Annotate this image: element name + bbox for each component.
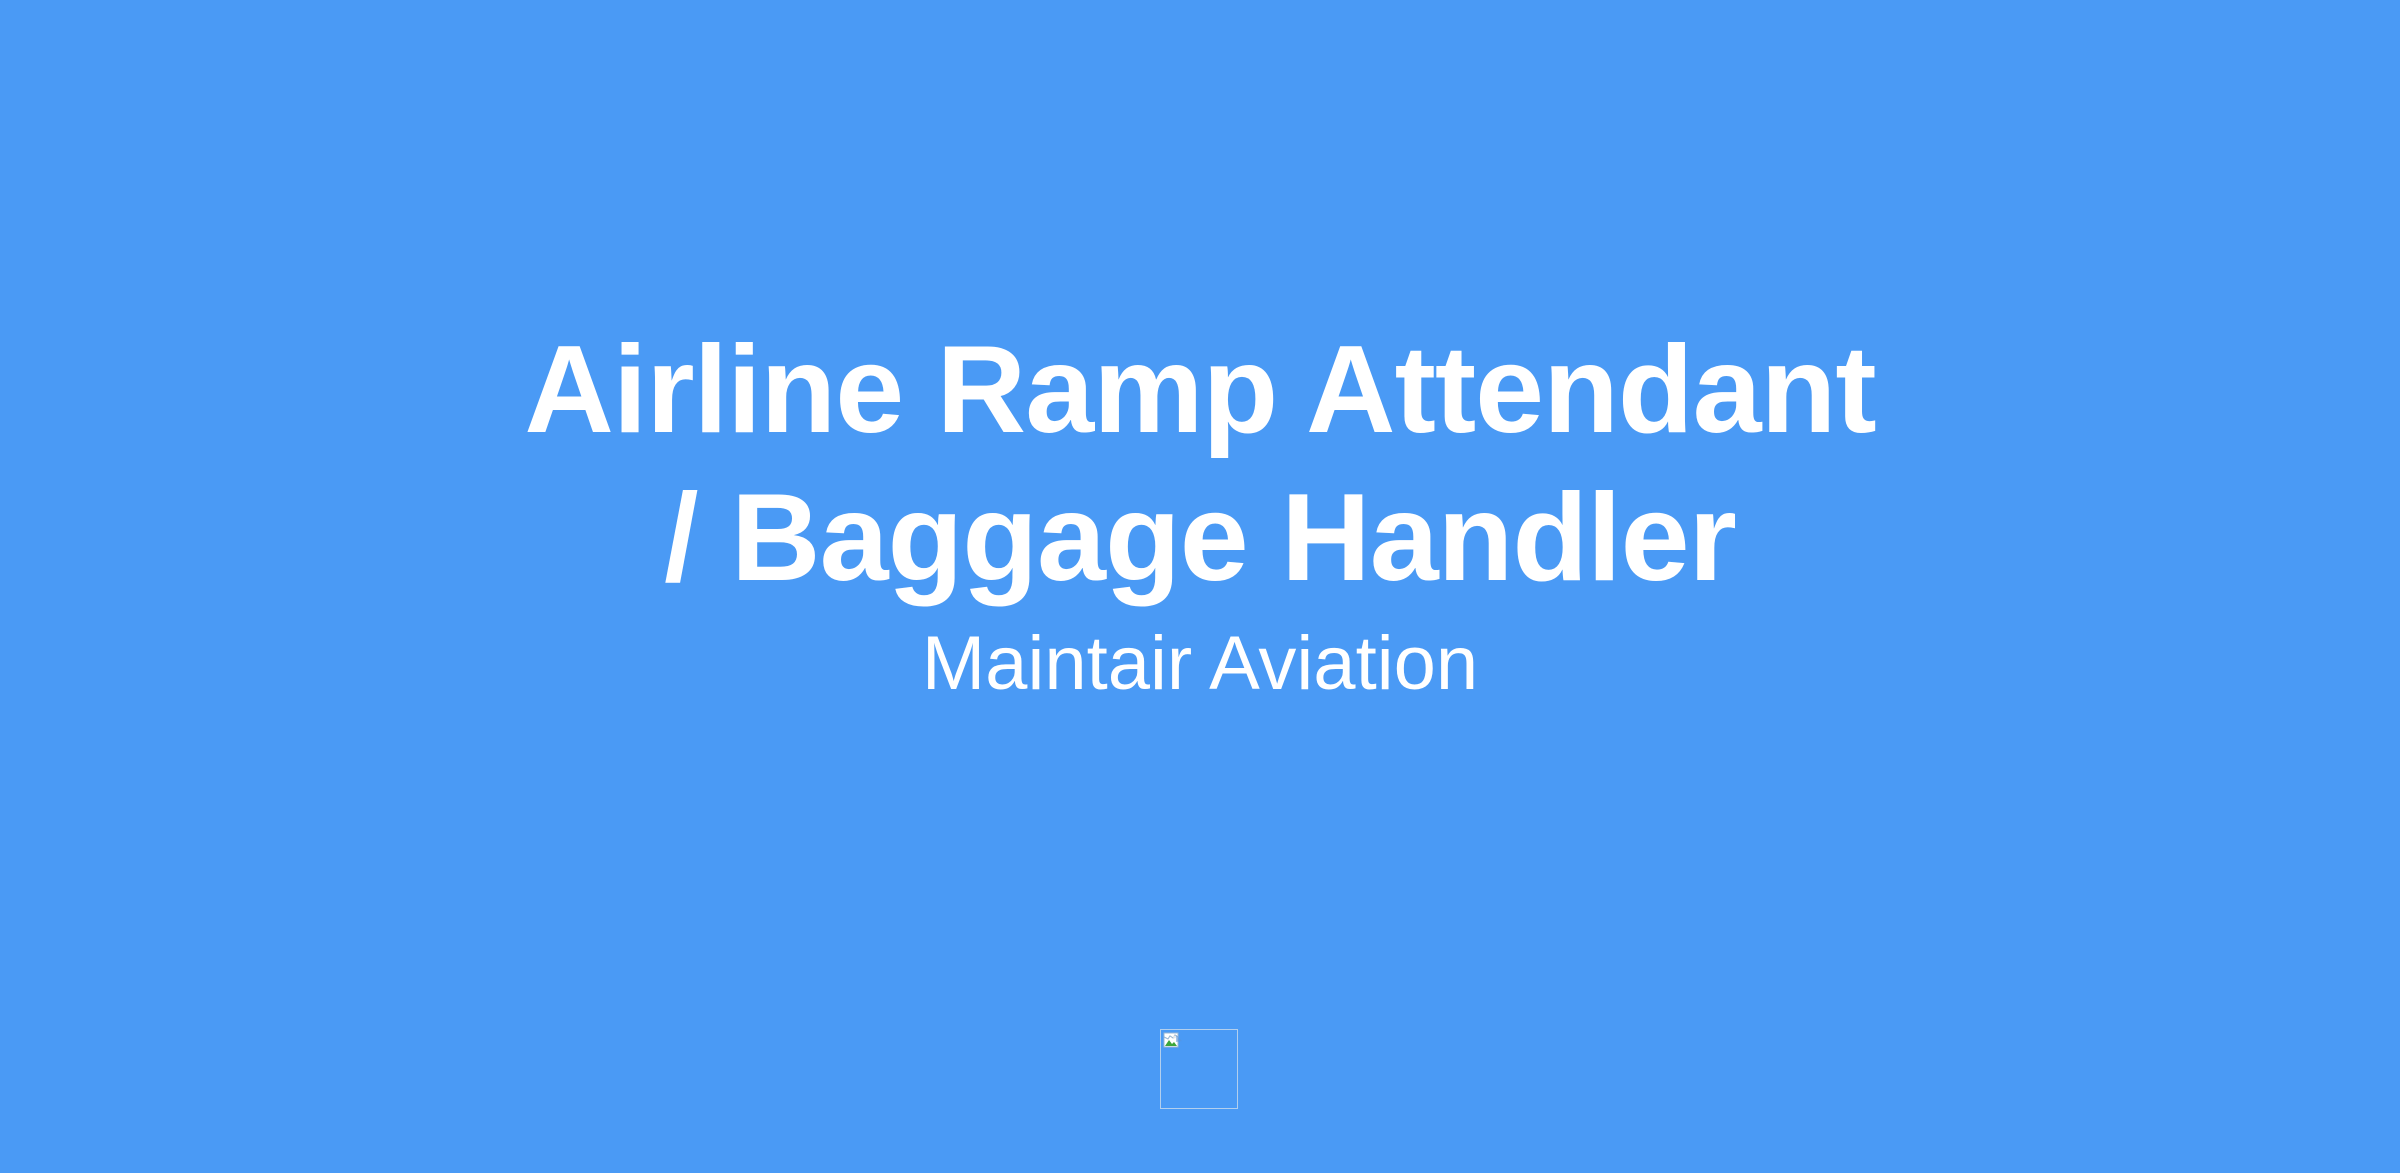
broken-image-icon — [1163, 1032, 1183, 1051]
hero-banner: Airline Ramp Attendant / Baggage Handler… — [0, 0, 2400, 1173]
page-title: Airline Ramp Attendant / Baggage Handler — [500, 316, 1900, 612]
broken-image-placeholder[interactable] — [1160, 1029, 1238, 1109]
hero-text-block: Airline Ramp Attendant / Baggage Handler… — [0, 316, 2400, 710]
company-name: Maintair Aviation — [922, 618, 1478, 710]
company-logo-slot — [1160, 1029, 1238, 1109]
